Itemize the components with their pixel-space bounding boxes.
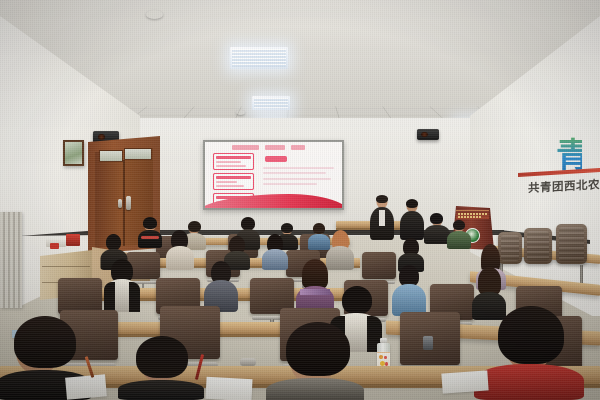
presenter (370, 196, 394, 240)
presentation-slide (205, 142, 342, 208)
student (296, 262, 334, 314)
student (138, 218, 162, 248)
presenter-shirt (379, 210, 385, 226)
scarf (141, 236, 159, 239)
foreground-student (118, 344, 204, 400)
door-handle[interactable] (118, 199, 122, 208)
student (262, 236, 288, 270)
desk-item (423, 336, 433, 350)
foreground-student (474, 318, 584, 400)
door-handle[interactable] (126, 196, 131, 210)
notebook-sheet (205, 377, 252, 400)
slide-card (213, 153, 254, 170)
smoke-detector-icon (146, 10, 163, 19)
office-chair[interactable] (524, 228, 552, 264)
classroom-photo: 青 共青团西北农 (0, 0, 600, 400)
slide-card-list (213, 153, 254, 198)
student (472, 270, 506, 320)
desk-item (240, 358, 256, 366)
projection-screen (203, 140, 344, 210)
podium-nameplate (456, 210, 489, 219)
wall-speaker (417, 129, 439, 140)
slide-title-bars (232, 145, 333, 150)
door-transom-glass (124, 148, 152, 160)
office-chair[interactable] (556, 224, 587, 264)
student (392, 268, 426, 316)
cabinet-item (66, 234, 80, 246)
door-seam (123, 160, 125, 246)
foreground-student (266, 330, 364, 400)
front-attendee (447, 221, 471, 249)
notebook-sheet (441, 370, 488, 393)
cabinet-seam (42, 266, 90, 267)
notebook-sheet (65, 374, 107, 399)
cabinet-item (50, 243, 59, 249)
slide-chip (265, 156, 287, 162)
wall-radiator (0, 212, 22, 308)
student (204, 264, 238, 312)
student (166, 232, 194, 270)
framed-picture (63, 140, 84, 166)
student (104, 262, 140, 312)
jacket-side (104, 282, 115, 312)
ceiling-light (230, 47, 288, 69)
ceiling-light (252, 96, 290, 110)
jacket-side (129, 282, 140, 312)
scarf (300, 289, 330, 295)
slide-card (213, 173, 254, 190)
smoke-detector-icon (236, 110, 245, 115)
front-attendee (400, 200, 424, 240)
door-transom-glass (99, 150, 123, 162)
